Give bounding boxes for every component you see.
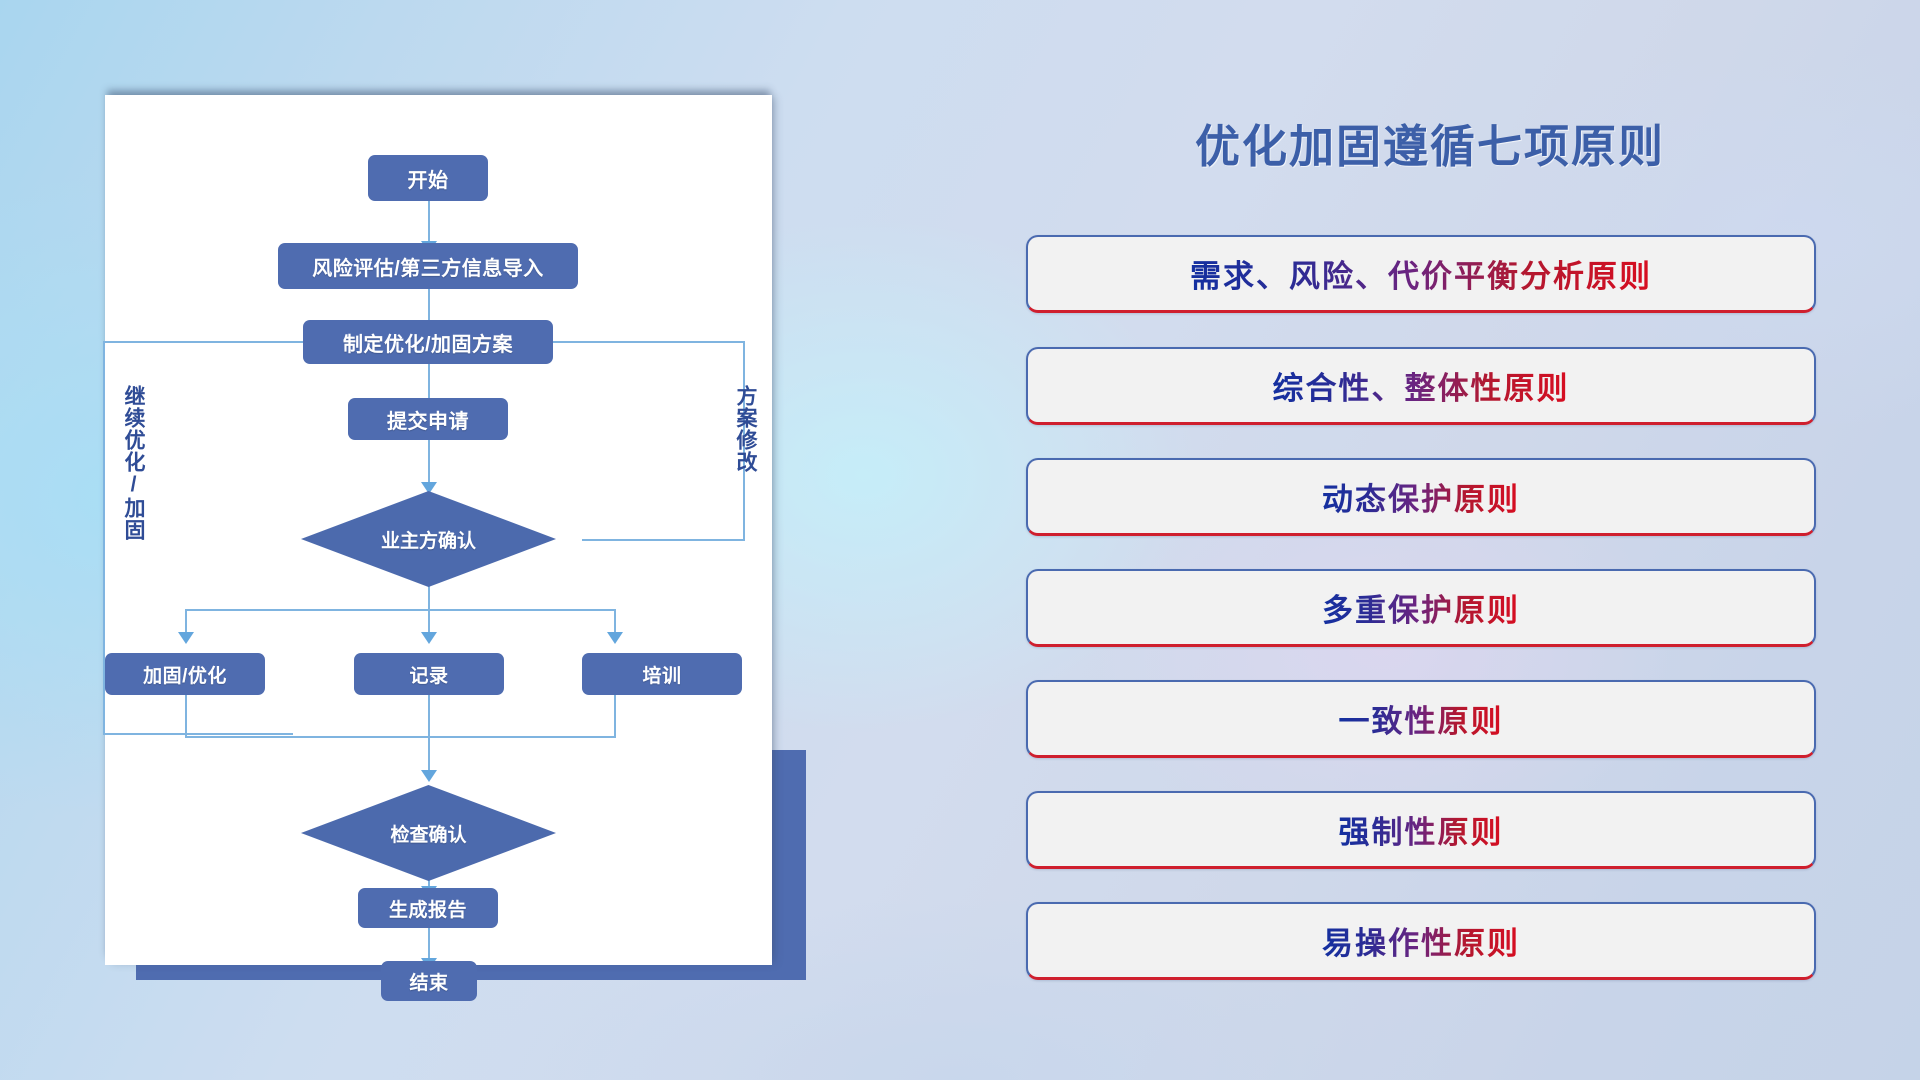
flow-node-start-label: 开始 — [408, 164, 449, 193]
flow-node-submit-label: 提交申请 — [387, 405, 469, 434]
connector-check-left — [103, 733, 293, 735]
principle-item-2-label: 综合性、整体性原则 — [1273, 363, 1570, 408]
principles-panel: 优化加固遵循七项原则 需求、风险、代价平衡分析原则 综合性、整体性原则 动态保护… — [1000, 0, 1920, 1080]
flow-node-assess[interactable]: 风险评估/第三方信息导入 — [278, 243, 578, 289]
flow-node-end[interactable]: 结束 — [381, 961, 477, 1001]
principle-item-3-label: 动态保护原则 — [1322, 474, 1520, 519]
connector-fanin-bar — [185, 736, 616, 738]
connector-start-assess — [428, 200, 430, 244]
principle-item-5-label: 一致性原则 — [1339, 696, 1504, 741]
principle-item-6[interactable]: 强制性原则 — [1026, 791, 1816, 869]
principles-title: 优化加固遵循七项原则 — [1000, 110, 1860, 175]
principle-item-7[interactable]: 易操作性原则 — [1026, 902, 1816, 980]
flow-node-train[interactable]: 培训 — [582, 653, 742, 695]
principle-item-1[interactable]: 需求、风险、代价平衡分析原则 — [1026, 235, 1816, 313]
arrowhead-fanin-check — [421, 770, 437, 782]
flowchart-card: 开始 风险评估/第三方信息导入 制定优化/加固方案 提交申请 业主方确认 加固/… — [105, 95, 772, 965]
principle-item-4[interactable]: 多重保护原则 — [1026, 569, 1816, 647]
flow-node-reinforce[interactable]: 加固/优化 — [105, 653, 265, 695]
connector-fanout-bar — [185, 609, 615, 611]
arrowhead-fan-right — [607, 632, 623, 644]
principle-item-2[interactable]: 综合性、整体性原则 — [1026, 347, 1816, 425]
flow-node-plan-label: 制定优化/加固方案 — [343, 328, 513, 357]
flow-node-end-label: 结束 — [409, 968, 448, 995]
flow-node-record[interactable]: 记录 — [354, 653, 504, 695]
flow-node-reinforce-label: 加固/优化 — [143, 661, 227, 688]
flowchart-panel: 开始 风险评估/第三方信息导入 制定优化/加固方案 提交申请 业主方确认 加固/… — [0, 0, 860, 1080]
edge-label-continue-optimize: 继续优化/加固 — [123, 385, 144, 541]
principle-item-5[interactable]: 一致性原则 — [1026, 680, 1816, 758]
edge-label-plan-revision: 方案修改 — [735, 385, 756, 473]
flow-node-record-label: 记录 — [409, 661, 448, 688]
connector-train-down — [614, 695, 616, 738]
flow-node-train-label: 培训 — [642, 661, 681, 688]
principle-item-6-label: 强制性原则 — [1339, 807, 1504, 852]
flow-node-plan[interactable]: 制定优化/加固方案 — [303, 320, 553, 364]
principle-item-3[interactable]: 动态保护原则 — [1026, 458, 1816, 536]
connector-owner-down — [428, 585, 430, 611]
arrowhead-fan-left — [178, 632, 194, 644]
connector-owner-right — [582, 539, 745, 541]
connector-plan-submit — [428, 359, 430, 401]
flow-node-start[interactable]: 开始 — [368, 155, 488, 201]
flow-node-report[interactable]: 生成报告 — [358, 888, 498, 928]
flow-node-submit[interactable]: 提交申请 — [348, 398, 508, 440]
flow-node-check-confirm-label: 检查确认 — [390, 820, 466, 847]
arrowhead-fan-mid — [421, 632, 437, 644]
principle-item-1-label: 需求、风险、代价平衡分析原则 — [1190, 251, 1652, 296]
flow-node-owner-confirm-label: 业主方确认 — [381, 526, 476, 553]
principle-item-4-label: 多重保护原则 — [1322, 585, 1520, 630]
flow-node-owner-confirm[interactable]: 业主方确认 — [301, 491, 556, 587]
flow-node-check-confirm[interactable]: 检查确认 — [301, 785, 556, 881]
flow-node-assess-label: 风险评估/第三方信息导入 — [312, 252, 544, 281]
connector-reinforce-down — [185, 695, 187, 738]
principle-item-7-label: 易操作性原则 — [1322, 918, 1520, 963]
flow-node-report-label: 生成报告 — [389, 895, 467, 922]
connector-report-end — [428, 925, 430, 961]
connector-fanin-mid — [428, 695, 430, 773]
connector-submit-owner — [428, 435, 430, 485]
